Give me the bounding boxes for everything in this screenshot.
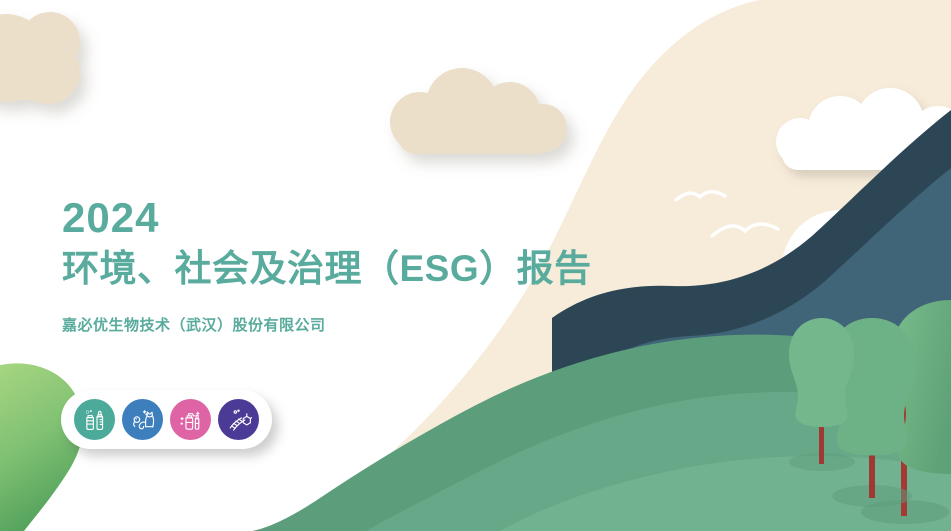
cat-pet-icon bbox=[130, 407, 156, 433]
dna-helix-icon bbox=[226, 407, 252, 433]
baby-bottle-icon: O bbox=[82, 407, 108, 433]
cosmetics-bottle-icon bbox=[178, 407, 204, 433]
badge-pet-nutrition[interactable] bbox=[122, 399, 163, 440]
cloud-top-left bbox=[0, 12, 80, 104]
badge-personal-care[interactable] bbox=[170, 399, 211, 440]
badge-biotechnology[interactable] bbox=[218, 399, 259, 440]
cover-text-block: 2024 环境、社会及治理（ESG）报告 嘉必优生物技术（武汉）股份有限公司 bbox=[62, 196, 592, 335]
svg-text:O: O bbox=[85, 409, 89, 415]
page-title: 环境、社会及治理（ESG）报告 bbox=[62, 246, 592, 292]
business-segment-badges: O bbox=[61, 390, 272, 449]
cover-year: 2024 bbox=[62, 196, 592, 240]
company-name: 嘉必优生物技术（武汉）股份有限公司 bbox=[62, 314, 592, 335]
report-cover-slide: 2024 环境、社会及治理（ESG）报告 嘉必优生物技术（武汉）股份有限公司 O bbox=[0, 0, 951, 531]
badge-infant-nutrition[interactable]: O bbox=[74, 399, 115, 440]
